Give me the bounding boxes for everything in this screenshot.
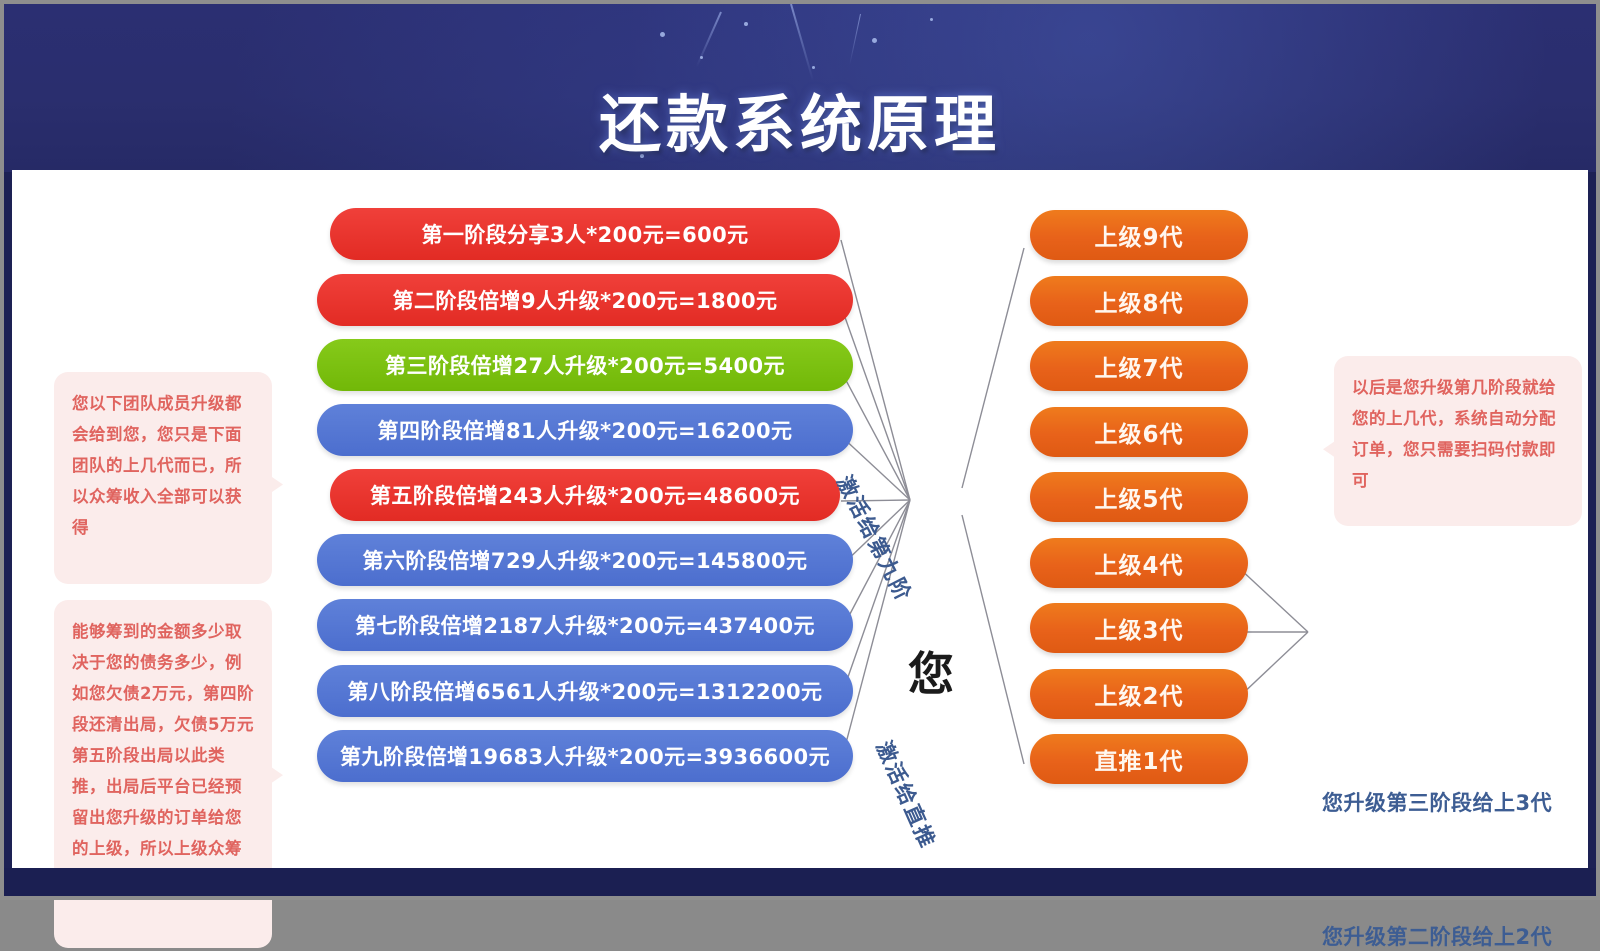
annotation-upgrade-stage2: 您升级第二阶段给上2代 [1322, 921, 1552, 951]
image-frame [0, 0, 1600, 900]
